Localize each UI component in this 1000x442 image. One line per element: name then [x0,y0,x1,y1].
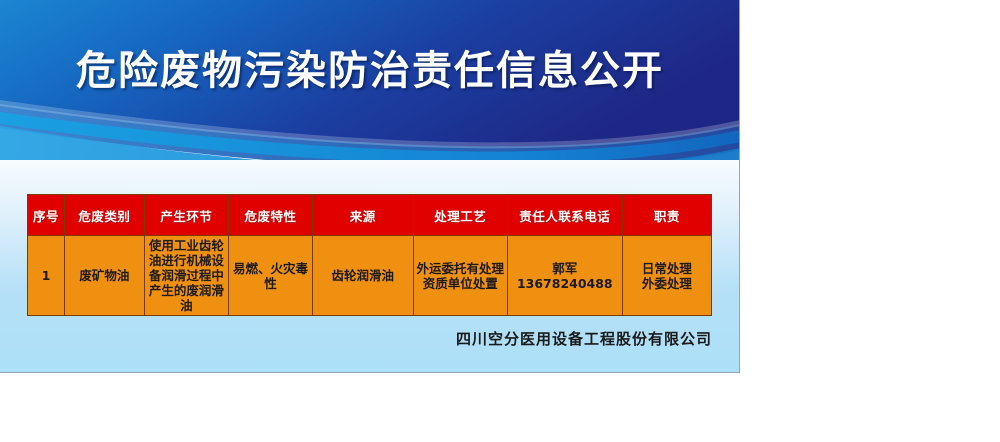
cell-index: 1 [28,236,65,316]
table-header-row: 序号 危废类别 产生环节 危废特性 来源 处理工艺 责任人联系电话 职责 [28,195,712,236]
responsible-person-phone: 13678240488 [510,276,620,291]
cell-category: 废矿物油 [64,236,144,316]
column-header-stage: 产生环节 [144,195,228,236]
poster-banner: 危险废物污染防治责任信息公开 [0,0,740,160]
cell-source: 齿轮润滑油 [313,236,413,316]
information-poster: 危险废物污染防治责任信息公开 序号 危废类别 产生环节 危废特性 来源 处理工艺 [0,0,740,373]
column-header-treatment: 处理工艺 [413,195,507,236]
hazardous-waste-table: 序号 危废类别 产生环节 危废特性 来源 处理工艺 责任人联系电话 职责 1 废… [27,194,712,316]
page-title: 危险废物污染防治责任信息公开 [0,46,740,96]
cell-treatment: 外运委托有处理资质单位处置 [413,236,507,316]
column-header-phone: 责任人联系电话 [507,195,622,236]
cell-property: 易燃、火灾毒性 [228,236,312,316]
column-header-source: 来源 [313,195,413,236]
cell-responsible-contact: 郭军 13678240488 [507,236,622,316]
cell-stage: 使用工业齿轮油进行机械设备润滑过程中产生的废润滑油 [144,236,228,316]
column-header-index: 序号 [28,195,65,236]
table-row: 1 废矿物油 使用工业齿轮油进行机械设备润滑过程中产生的废润滑油 易燃、火灾毒性… [28,236,712,316]
company-name: 四川空分医用设备工程股份有限公司 [0,328,712,349]
responsible-person-name: 郭军 [510,261,620,276]
cell-duty: 日常处理外委处理 [622,236,711,316]
column-header-category: 危废类别 [64,195,144,236]
column-header-property: 危废特性 [228,195,312,236]
screenshot-canvas: 危险废物污染防治责任信息公开 序号 危废类别 产生环节 危废特性 来源 处理工艺 [0,0,1000,442]
hazardous-waste-table-wrapper: 序号 危废类别 产生环节 危废特性 来源 处理工艺 责任人联系电话 职责 1 废… [27,194,712,316]
column-header-duty: 职责 [622,195,711,236]
